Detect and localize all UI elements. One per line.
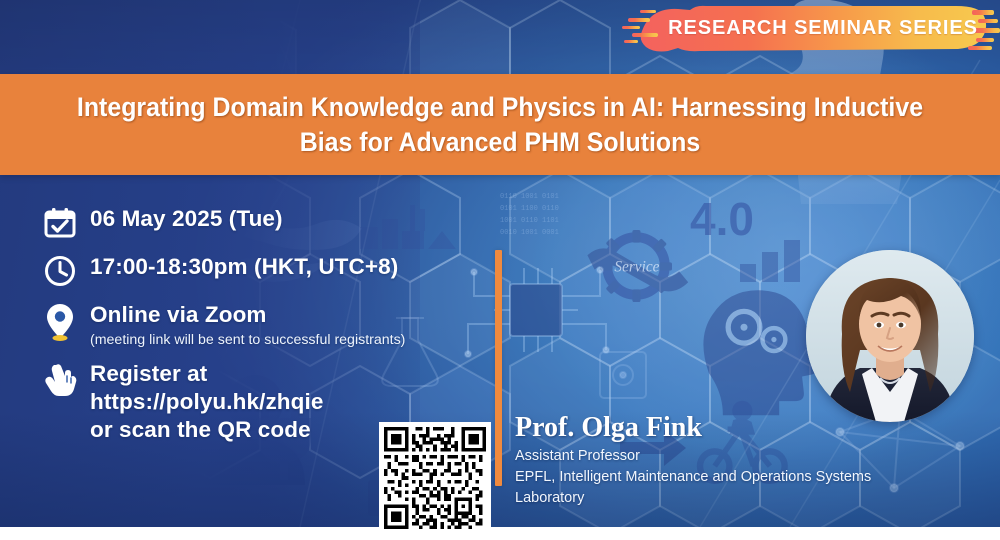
speaker-info: Prof. Olga Fink Assistant Professor EPFL… bbox=[515, 412, 960, 509]
clock-icon bbox=[44, 253, 90, 287]
detail-row-date: 06 May 2025 (Tue) bbox=[44, 205, 504, 239]
speaker-affiliation-cont: Laboratory bbox=[515, 488, 960, 509]
registration-qr-code[interactable] bbox=[379, 422, 491, 534]
event-time: 17:00-18:30pm (HKT, UTC+8) bbox=[90, 253, 504, 281]
seminar-poster: 4.0 bbox=[0, 0, 1000, 540]
event-details: 06 May 2025 (Tue) 17:00-18:30pm (HKT, UT… bbox=[44, 205, 504, 454]
banner-label: RESEARCH SEMINAR SERIES bbox=[622, 2, 1000, 54]
event-venue-note: (meeting link will be sent to successful… bbox=[90, 331, 504, 349]
speaker-role: Assistant Professor bbox=[515, 446, 960, 467]
location-pin-icon bbox=[44, 301, 90, 341]
speaker-portrait bbox=[806, 250, 974, 422]
speaker-affiliation: EPFL, Intelligent Maintenance and Operat… bbox=[515, 467, 955, 488]
detail-row-venue: Online via Zoom (meeting link will be se… bbox=[44, 301, 504, 350]
register-url[interactable]: https://polyu.hk/zhqie bbox=[90, 388, 504, 416]
detail-row-time: 17:00-18:30pm (HKT, UTC+8) bbox=[44, 253, 504, 287]
vertical-divider bbox=[495, 250, 502, 486]
pointing-hand-icon bbox=[44, 360, 90, 396]
event-venue: Online via Zoom bbox=[90, 301, 504, 329]
register-line1: Register at bbox=[90, 360, 504, 388]
page-title: Integrating Domain Knowledge and Physics… bbox=[63, 90, 937, 160]
event-date: 06 May 2025 (Tue) bbox=[90, 205, 504, 233]
bottom-white-strip bbox=[0, 527, 1000, 540]
calendar-check-icon bbox=[44, 205, 90, 239]
title-bar: Integrating Domain Knowledge and Physics… bbox=[0, 74, 1000, 175]
